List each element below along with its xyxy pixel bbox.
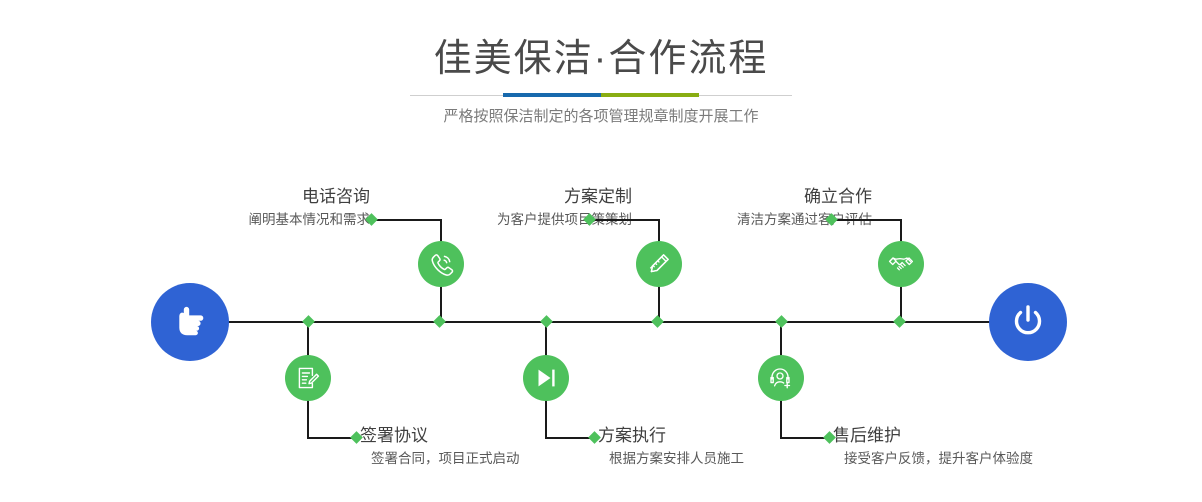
step-label-confirm-cooperation: 确立合作 清洁方案通过客户评估 bbox=[737, 186, 872, 230]
step-label-after-sales: 售后维护 接受客户反馈，提升客户体验度 bbox=[833, 425, 1033, 469]
pencil-ruler-icon bbox=[645, 250, 673, 278]
step-label-phone-consult: 电话咨询 阐明基本情况和需求 bbox=[249, 186, 371, 230]
hand-pointing-icon bbox=[170, 302, 210, 342]
step-icon-plan-custom[interactable] bbox=[636, 241, 682, 287]
step-title: 电话咨询 bbox=[249, 186, 371, 208]
flow-start-node[interactable] bbox=[151, 283, 229, 361]
handshake-icon bbox=[887, 250, 915, 278]
customer-service-icon bbox=[767, 364, 795, 392]
step-icon-sign-agreement[interactable] bbox=[285, 355, 331, 401]
phone-call-icon bbox=[427, 250, 455, 278]
step-icon-confirm-cooperation[interactable] bbox=[878, 241, 924, 287]
step-icon-after-sales[interactable] bbox=[758, 355, 804, 401]
axis-diamond-bottom-3 bbox=[775, 315, 788, 328]
step-desc: 根据方案安排人员施工 bbox=[598, 449, 744, 469]
step-desc: 签署合同，项目正式启动 bbox=[360, 449, 520, 469]
step-label-plan-custom: 方案定制 为客户提供项目策策划 bbox=[497, 186, 632, 230]
document-edit-icon bbox=[294, 364, 322, 392]
process-flow-diagram: 电话咨询 阐明基本情况和需求 bbox=[0, 0, 1202, 502]
step-icon-plan-execute[interactable] bbox=[523, 355, 569, 401]
axis-diamond-top-2 bbox=[651, 315, 664, 328]
step-icon-phone-consult[interactable] bbox=[418, 241, 464, 287]
axis-diamond-bottom-1 bbox=[302, 315, 315, 328]
step-title: 方案定制 bbox=[497, 186, 632, 208]
step-label-sign-agreement: 签署协议 签署合同，项目正式启动 bbox=[360, 425, 520, 469]
step-title: 确立合作 bbox=[737, 186, 872, 208]
axis-diamond-top-1 bbox=[433, 315, 446, 328]
flow-chart-page: 佳美保洁·合作流程 严格按照保洁制定的各项管理规章制度开展工作 bbox=[0, 0, 1202, 502]
step-title: 签署协议 bbox=[360, 425, 520, 447]
power-icon bbox=[1007, 301, 1049, 343]
step-title: 方案执行 bbox=[598, 425, 744, 447]
step-title: 售后维护 bbox=[833, 425, 1033, 447]
step-label-plan-execute: 方案执行 根据方案安排人员施工 bbox=[598, 425, 744, 469]
branch-arm-top-3 bbox=[832, 219, 902, 221]
branch-arm-top-1 bbox=[372, 219, 442, 221]
step-desc: 阐明基本情况和需求 bbox=[249, 210, 371, 230]
step-desc: 接受客户反馈，提升客户体验度 bbox=[833, 449, 1033, 469]
axis-diamond-bottom-2 bbox=[540, 315, 553, 328]
branch-arm-top-2 bbox=[590, 219, 660, 221]
play-skip-icon bbox=[532, 364, 560, 392]
flow-end-node[interactable] bbox=[989, 283, 1067, 361]
axis-diamond-top-3 bbox=[893, 315, 906, 328]
